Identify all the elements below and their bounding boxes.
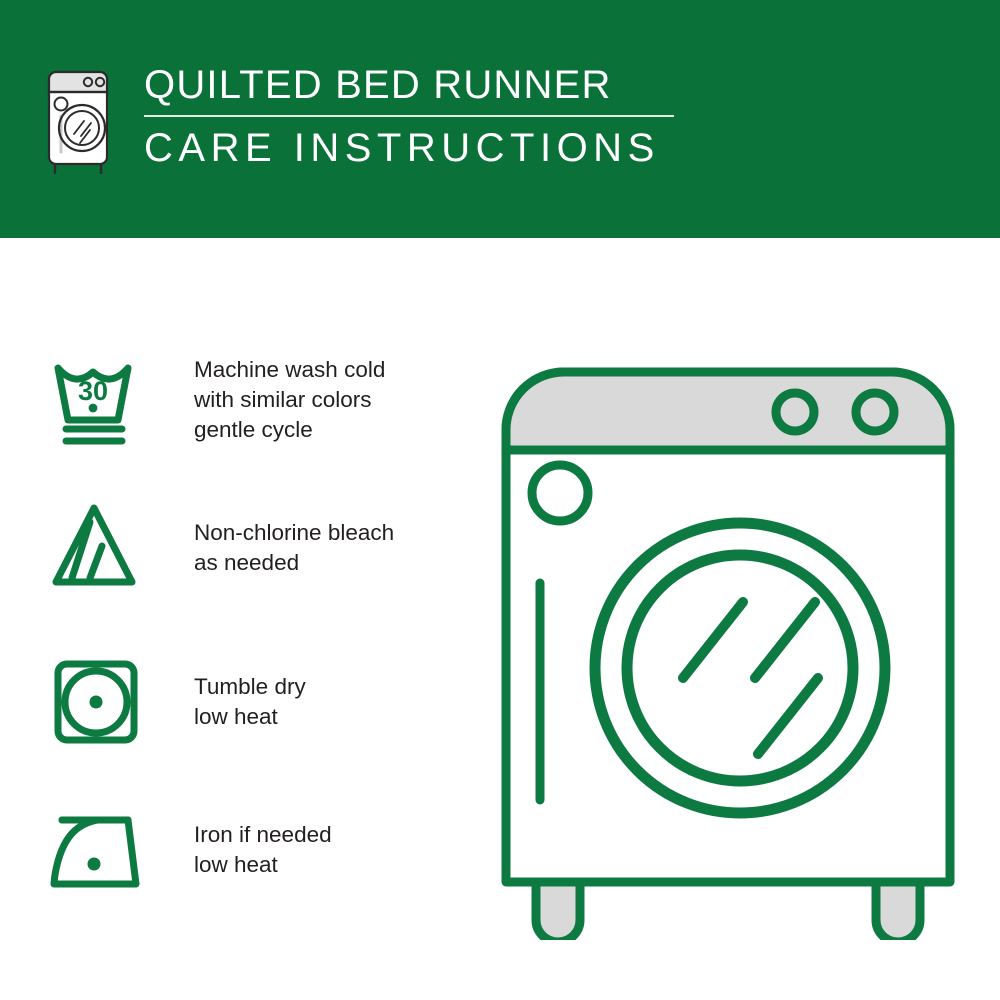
wash-temperature-value: 30 [78, 376, 108, 406]
care-instruction-text: Machine wash cold with similar colors ge… [194, 355, 385, 445]
care-instruction-list: 30 Machine wash cold with similar colors… [0, 238, 470, 1000]
title-block: QUILTED BED RUNNER CARE INSTRUCTIONS [144, 62, 674, 171]
control-panel [506, 372, 950, 450]
care-instructions-infographic: QUILTED BED RUNNER CARE INSTRUCTIONS 30 … [0, 0, 1000, 1000]
non-chlorine-bleach-triangle-icon [46, 496, 164, 600]
care-instruction-text: Tumble dry low heat [194, 672, 306, 732]
foot-right [876, 882, 920, 940]
wash-tub-30-gentle-icon: 30 [46, 348, 164, 452]
washing-machine-icon [44, 66, 116, 178]
care-instruction-text: Non-chlorine bleach as needed [194, 518, 394, 578]
page-subtitle: CARE INSTRUCTIONS [144, 125, 674, 171]
care-instruction-item: Iron if needed low heat [46, 798, 446, 902]
tumble-dry-low-heat-icon [46, 650, 164, 754]
header-content: QUILTED BED RUNNER CARE INSTRUCTIONS [44, 62, 674, 178]
care-instruction-item: Tumble dry low heat [46, 650, 446, 754]
care-instruction-text: Iron if needed low heat [194, 820, 332, 880]
header-banner: QUILTED BED RUNNER CARE INSTRUCTIONS [0, 0, 1000, 238]
foot-left [536, 882, 580, 940]
iron-low-heat-icon [46, 798, 164, 902]
care-instruction-item: 30 Machine wash cold with similar colors… [46, 348, 446, 452]
front-load-washing-machine-illustration [488, 330, 968, 940]
title-divider [144, 115, 674, 117]
care-instruction-item: Non-chlorine bleach as needed [46, 496, 446, 600]
page-title: QUILTED BED RUNNER [144, 62, 674, 108]
